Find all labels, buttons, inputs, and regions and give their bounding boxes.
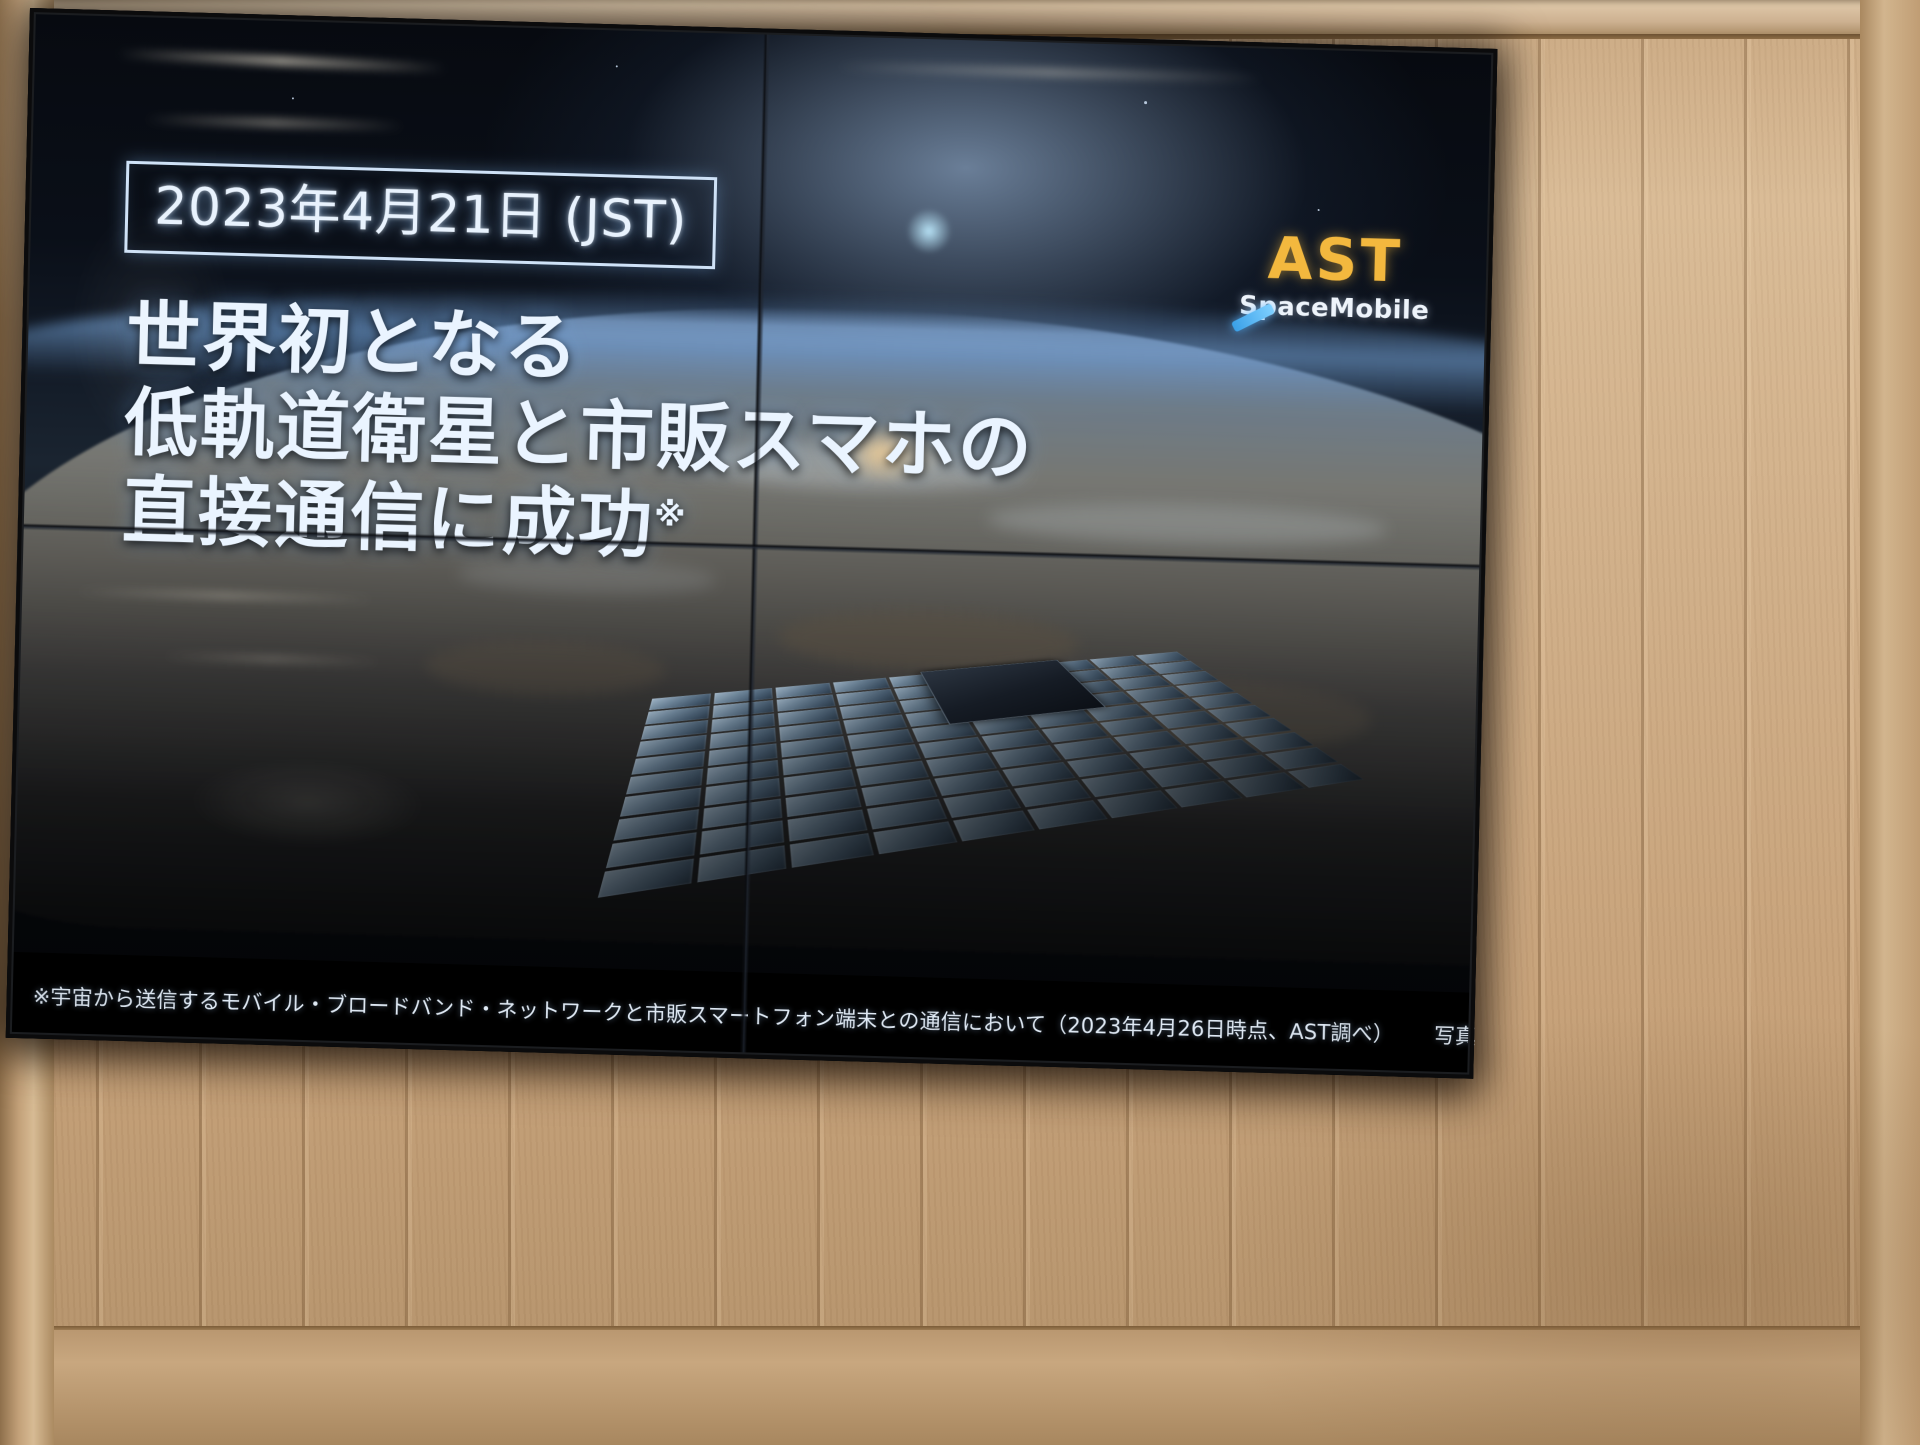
logo-primary-text: AST	[1240, 228, 1431, 291]
ast-spacemobile-logo: AST SpaceMobile	[1239, 228, 1431, 324]
headline-line-3-text: 直接通信に成功	[121, 467, 655, 568]
video-wall-display[interactable]: 2023年4月21日 (JST) 世界初となる 低軌道衛星と市販スマホの 直接通…	[6, 8, 1498, 1079]
footnote-text: ※宇宙から送信するモバイル・ブロードバンド・ネットワークと市販スマートフォン端末…	[6, 980, 1394, 1049]
date-badge: 2023年4月21日 (JST)	[124, 161, 717, 269]
slide-screen: 2023年4月21日 (JST) 世界初となる 低軌道衛星と市販スマホの 直接通…	[6, 8, 1498, 1079]
headline-block: 世界初となる 低軌道衛星と市販スマホの 直接通信に成功※	[121, 293, 1037, 580]
footnote-mark: ※	[654, 495, 686, 534]
conference-room-wall: 2023年4月21日 (JST) 世界初となる 低軌道衛星と市販スマホの 直接通…	[0, 0, 1920, 1445]
slide-text-layer: 2023年4月21日 (JST) 世界初となる 低軌道衛星と市販スマホの 直接通…	[6, 8, 1498, 1079]
